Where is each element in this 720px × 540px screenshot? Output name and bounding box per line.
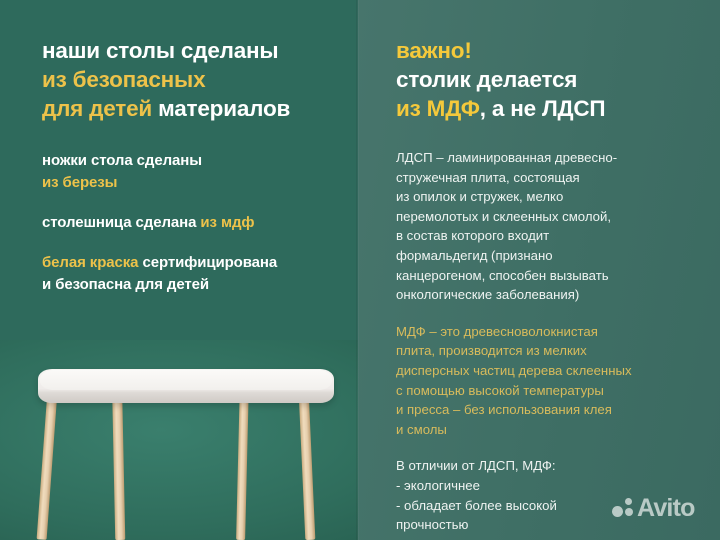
bullet-tabletop-line-1: столешница сделана из мдф	[42, 212, 357, 234]
right-body-copy: ЛДСП – ламинированная древесно- стружечн…	[396, 148, 704, 535]
bullet-legs: ножки стола сделаны из березы	[42, 150, 357, 194]
paragraph-mdf-line-4: с помощью высокой температуры	[396, 381, 704, 401]
bullet-legs-line-2: из березы	[42, 172, 357, 194]
left-headline-line-3-text: материалов	[152, 96, 290, 121]
avito-watermark: Avito	[611, 494, 707, 524]
paragraph-mdf-line-6: и смолы	[396, 420, 704, 440]
paragraph-ldsp-line-2: стружечная плита, состоящая	[396, 168, 704, 188]
bullet-legs-line-1: ножки стола сделаны	[42, 150, 357, 172]
bullet-paint-accent: белая краска	[42, 254, 138, 271]
paragraph-ldsp: ЛДСП – ламинированная древесно- стружечн…	[396, 148, 704, 305]
avito-logo-dot-large-icon	[612, 506, 623, 517]
paragraph-mdf: МДФ – это древесноволокнистая плита, про…	[396, 322, 704, 440]
right-headline: важно! столик делается из МДФ, а не ЛДСП	[396, 36, 701, 123]
table-top-surface	[40, 370, 332, 390]
paragraph-comparison-line-1: В отличии от ЛДСП, МДФ:	[396, 456, 704, 476]
bullet-paint-line-2-text: и безопасна для детей	[42, 276, 209, 293]
paragraph-ldsp-line-3: из опилок и стружек, мелко	[396, 187, 704, 207]
left-headline-line-2: из безопасных	[42, 65, 352, 94]
left-headline-line-1: наши столы сделаны	[42, 36, 352, 65]
bullet-legs-line-1-text: ножки стола сделаны	[42, 152, 202, 169]
paragraph-ldsp-line-6: формальдегид (признано	[396, 246, 704, 266]
bullet-tabletop-text: столешница сделана	[42, 214, 200, 231]
bullet-paint: белая краска сертифицирована и безопасна…	[42, 252, 357, 296]
right-headline-line-1: важно!	[396, 36, 701, 65]
panel-divider	[356, 0, 359, 540]
table-product-photo	[0, 340, 358, 540]
bullet-paint-text: сертифицирована	[138, 254, 277, 271]
paragraph-ldsp-line-4: перемолотых и склеенных смолой,	[396, 207, 704, 227]
paragraph-ldsp-line-7: канцерогеном, способен вызывать	[396, 266, 704, 286]
left-headline-line-3: для детей материалов	[42, 94, 352, 123]
paragraph-ldsp-line-5: в состав которого входит	[396, 226, 704, 246]
paragraph-mdf-line-3: дисперсных частиц дерева склеенных	[396, 361, 704, 381]
left-bullet-list: ножки стола сделаны из березы столешница…	[42, 150, 357, 296]
left-panel: наши столы сделаны из безопасных для дет…	[0, 0, 358, 540]
bullet-paint-line-2: и безопасна для детей	[42, 274, 357, 296]
bullet-tabletop-accent: из мдф	[200, 214, 254, 231]
left-headline-line-2-text: из безопасных	[42, 67, 205, 92]
right-headline-line-3-accent: из МДФ	[396, 96, 480, 121]
right-headline-line-2-text: столик делается	[396, 67, 577, 92]
left-headline-line-1-text: наши столы сделаны	[42, 38, 278, 63]
left-headline: наши столы сделаны из безопасных для дет…	[42, 36, 352, 123]
right-headline-line-3: из МДФ, а не ЛДСП	[396, 94, 701, 123]
paragraph-ldsp-line-1: ЛДСП – ламинированная древесно-	[396, 148, 704, 168]
left-headline-line-3-accent: для детей	[42, 96, 152, 121]
infographic-canvas: наши столы сделаны из безопасных для дет…	[0, 0, 720, 540]
right-headline-line-2: столик делается	[396, 65, 701, 94]
avito-logo-dot-medium-icon	[625, 508, 633, 516]
bullet-tabletop: столешница сделана из мдф	[42, 212, 357, 234]
paragraph-ldsp-line-8: онкологические заболевания)	[396, 285, 704, 305]
paragraph-mdf-line-2: плита, производится из мелких	[396, 341, 704, 361]
right-headline-important-text: важно!	[396, 38, 472, 63]
paragraph-mdf-line-1: МДФ – это древесноволокнистая	[396, 322, 704, 342]
right-headline-line-3-text: , а не ЛДСП	[480, 96, 606, 121]
paragraph-mdf-line-5: и пресса – без использования клея	[396, 400, 704, 420]
bullet-paint-line-1: белая краска сертифицирована	[42, 252, 357, 274]
avito-wordmark-text: Avito	[637, 494, 695, 523]
paragraph-comparison-line-2: - экологичнее	[396, 476, 704, 496]
bullet-legs-line-2-text: из березы	[42, 174, 117, 191]
avito-logo-dot-small-icon	[625, 498, 632, 505]
